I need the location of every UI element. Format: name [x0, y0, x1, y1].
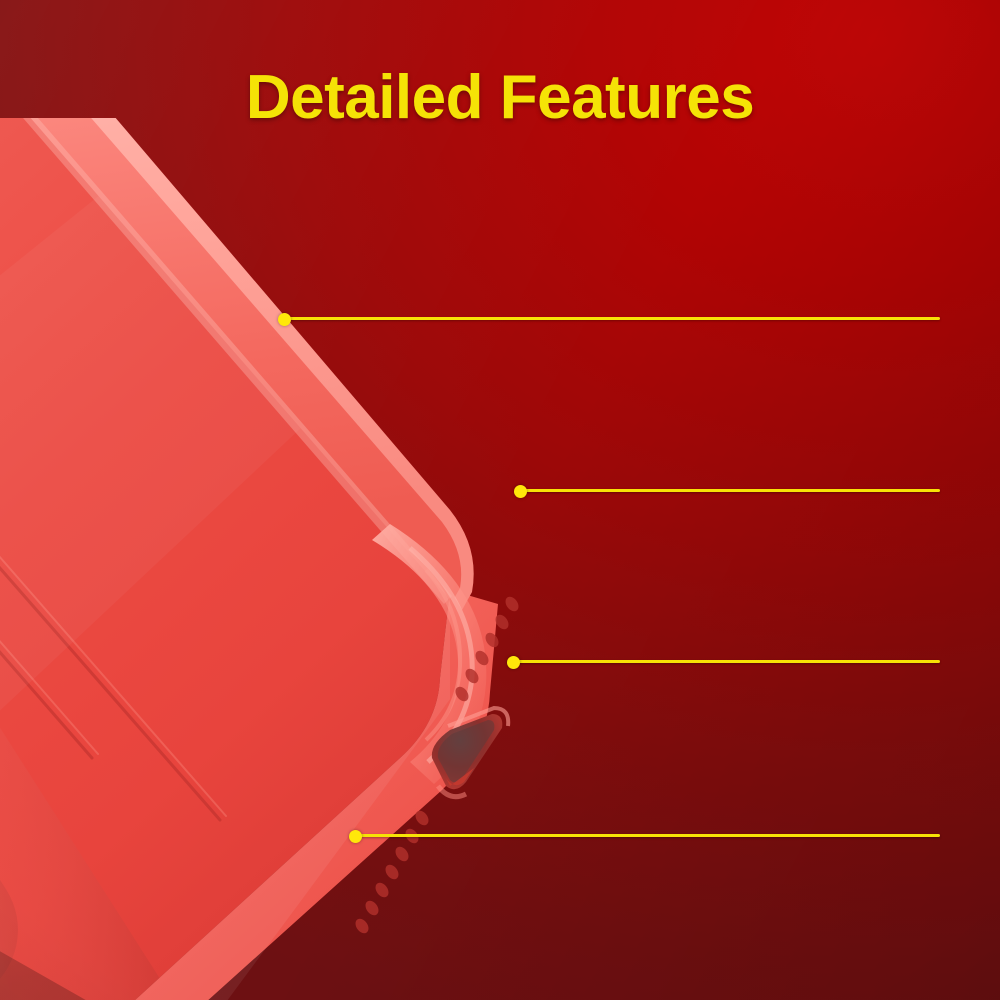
page-title: Detailed Features: [0, 62, 1000, 133]
leader-dot: [514, 485, 527, 498]
leader-line: [355, 834, 940, 837]
infographic-canvas: Detailed Features Superior Grip Raised S…: [0, 0, 1000, 1000]
leader-line: [513, 660, 940, 663]
leader-line: [284, 317, 940, 320]
leader-dot: [507, 656, 520, 669]
leader-dot: [278, 313, 291, 326]
background-vignette: [0, 0, 1000, 1000]
leader-dot: [349, 830, 362, 843]
leader-line: [520, 489, 940, 492]
